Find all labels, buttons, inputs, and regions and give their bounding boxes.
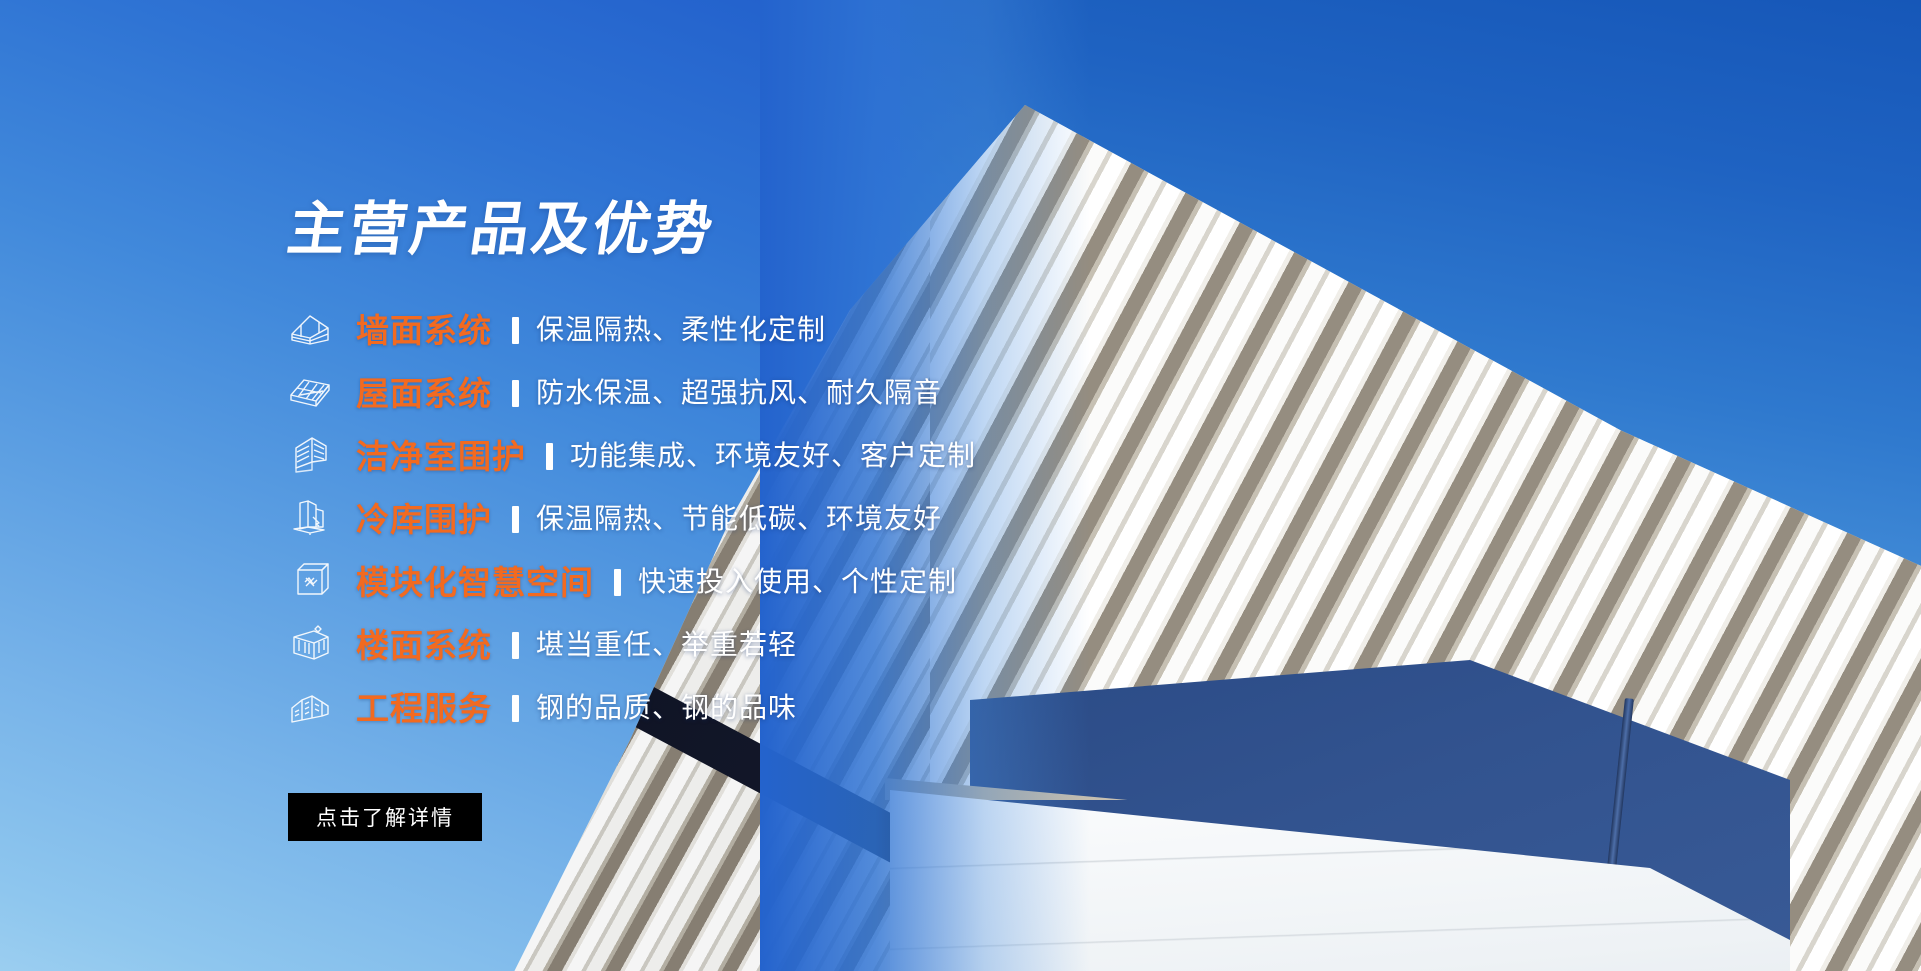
title-separator xyxy=(512,317,519,344)
feature-description: 快速投入使用、个性定制 xyxy=(638,560,957,600)
list-item[interactable]: 墙面系统 保温隔热、柔性化定制 xyxy=(288,296,1048,359)
feature-description: 保温隔热、柔性化定制 xyxy=(536,308,826,348)
list-item[interactable]: 楼面系统 堪当重任、举重若轻 xyxy=(288,611,1048,674)
cold-storage-icon xyxy=(288,496,332,538)
title-separator xyxy=(614,569,621,596)
feature-description: 保温隔热、节能低碳、环境友好 xyxy=(536,497,942,537)
feature-description: 钢的品质、钢的品味 xyxy=(536,686,797,726)
title-separator xyxy=(546,443,553,470)
feature-description: 功能集成、环境友好、客户定制 xyxy=(570,434,976,474)
title-separator xyxy=(512,695,519,722)
banner-content: 主营产品及优势 墙面系统 保温隔热、柔性化定制 xyxy=(0,0,900,971)
list-item[interactable]: 冷库围护 保温隔热、节能低碳、环境友好 xyxy=(288,485,1048,548)
modular-cube-icon xyxy=(288,559,332,601)
floor-system-icon xyxy=(288,622,332,664)
list-item[interactable]: 屋面系统 防水保温、超强抗风、耐久隔音 xyxy=(288,359,1048,422)
title-separator xyxy=(512,632,519,659)
feature-title: 洁净室围护 xyxy=(356,430,526,478)
roof-panel-icon xyxy=(288,370,332,412)
list-item[interactable]: 模块化智慧空间 快速投入使用、个性定制 xyxy=(288,548,1048,611)
list-item[interactable]: 洁净室围护 功能集成、环境友好、客户定制 xyxy=(288,422,1048,485)
feature-title: 冷库围护 xyxy=(356,493,492,541)
feature-title: 楼面系统 xyxy=(356,619,492,667)
feature-title: 屋面系统 xyxy=(356,367,492,415)
cleanroom-building-icon xyxy=(288,433,332,475)
feature-title: 模块化智慧空间 xyxy=(356,556,594,604)
feature-description: 堪当重任、举重若轻 xyxy=(536,623,797,663)
feature-title: 墙面系统 xyxy=(356,304,492,352)
engineering-service-icon xyxy=(288,685,332,727)
title-separator xyxy=(512,380,519,407)
feature-title: 工程服务 xyxy=(356,682,492,730)
page-title: 主营产品及优势 xyxy=(284,200,719,258)
feature-list: 墙面系统 保温隔热、柔性化定制 xyxy=(288,296,1048,737)
promo-banner: 主营产品及优势 墙面系统 保温隔热、柔性化定制 xyxy=(0,0,1921,971)
list-item[interactable]: 工程服务 钢的品质、钢的品味 xyxy=(288,674,1048,737)
feature-description: 防水保温、超强抗风、耐久隔音 xyxy=(536,371,942,411)
title-separator xyxy=(512,506,519,533)
wall-panel-icon xyxy=(288,307,332,349)
learn-more-button[interactable]: 点击了解详情 xyxy=(288,793,482,841)
